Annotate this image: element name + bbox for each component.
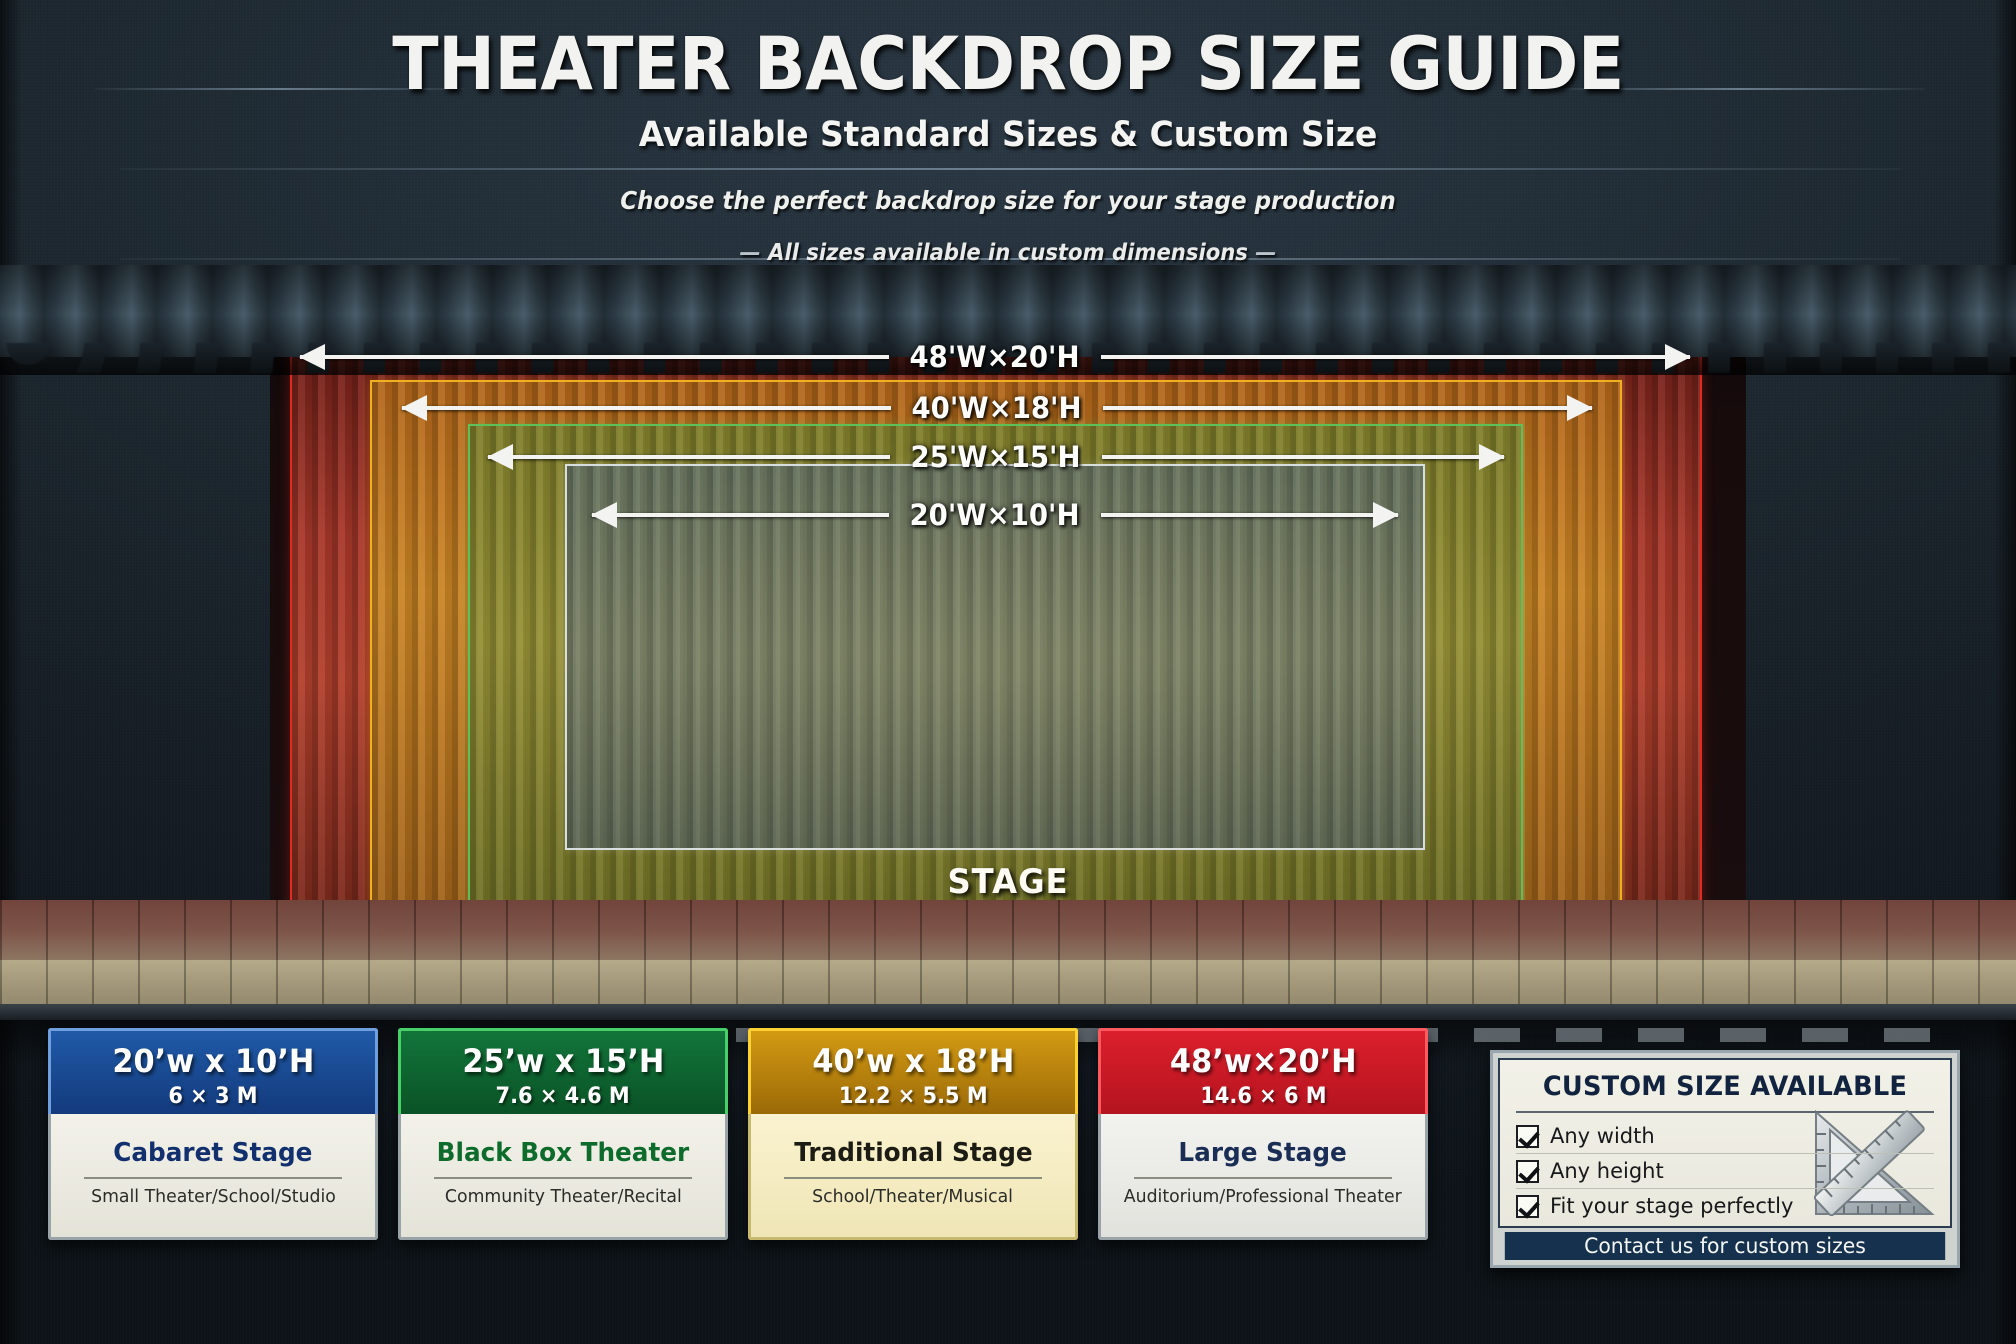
arrow-right-20x10 — [1101, 513, 1398, 517]
dimension-row-48x20: 48'W×20'H — [300, 335, 1690, 379]
checkbox-checked-icon[interactable] — [1516, 1195, 1539, 1218]
note-text: All sizes available in custom dimensions — [768, 240, 1248, 266]
custom-panel-inner: CUSTOM SIZE AVAILABLE Any width Any heig… — [1498, 1058, 1952, 1228]
card-header: 25’w x 15’H 7.6 × 4.6 M — [398, 1028, 728, 1114]
custom-feature-any-height[interactable]: Any height — [1516, 1153, 1934, 1185]
card-divider — [784, 1177, 1043, 1179]
arrow-right-25x15 — [1102, 455, 1504, 459]
checkbox-checked-icon[interactable] — [1516, 1160, 1539, 1183]
card-dimension: 48’w×20’H — [1170, 1045, 1357, 1077]
arrow-left-48x20 — [300, 355, 889, 359]
card-title: Traditional Stage — [794, 1139, 1032, 1168]
stage-floor-apron — [0, 960, 2016, 1006]
card-title: Black Box Theater — [437, 1139, 690, 1168]
custom-feature-label: Any width — [1550, 1124, 1655, 1148]
stage-label: STAGE — [50, 862, 1965, 902]
card-metric: 7.6 × 4.6 M — [496, 1084, 630, 1109]
size-card-list: 20’w x 10’H 6 × 3 M Cabaret Stage Small … — [48, 1028, 1428, 1240]
card-divider — [1134, 1177, 1393, 1179]
arrow-left-20x10 — [592, 513, 889, 517]
card-dimension: 20’w x 10’H — [112, 1045, 314, 1077]
custom-feature-fit-stage[interactable]: Fit your stage perfectly — [1516, 1188, 1934, 1220]
card-body: Large Stage Auditorium/Professional Thea… — [1098, 1114, 1428, 1240]
size-card-black-box[interactable]: 25’w x 15’H 7.6 × 4.6 M Black Box Theate… — [398, 1028, 728, 1240]
card-header: 48’w×20’H 14.6 × 6 M — [1098, 1028, 1428, 1114]
card-dimension: 40’w x 18’H — [812, 1045, 1014, 1077]
size-card-cabaret[interactable]: 20’w x 10’H 6 × 3 M Cabaret Stage Small … — [48, 1028, 378, 1240]
dimension-label-48x20: 48'W×20'H — [895, 340, 1095, 374]
custom-dimensions-note: —All sizes available in custom dimension… — [81, 240, 1936, 266]
card-header: 40’w x 18’H 12.2 × 5.5 M — [748, 1028, 1078, 1114]
infographic-background: THEATER BACKDROP SIZE GUIDE Available St… — [0, 0, 2016, 1344]
card-header: 20’w x 10’H 6 × 3 M — [48, 1028, 378, 1114]
card-usage: Auditorium/Professional Theater — [1124, 1187, 1402, 1208]
custom-feature-label: Fit your stage perfectly — [1550, 1194, 1793, 1218]
size-card-large[interactable]: 48’w×20’H 14.6 × 6 M Large Stage Auditor… — [1098, 1028, 1428, 1240]
card-usage: Community Theater/Recital — [445, 1187, 682, 1208]
arrow-left-40x18 — [402, 406, 891, 410]
card-title: Large Stage — [1179, 1139, 1347, 1168]
dimension-row-25x15: 25'W×15'H — [488, 435, 1504, 479]
dimension-row-40x18: 40'W×18'H — [402, 386, 1592, 430]
page-subtitle: Available Standard Sizes & Custom Size — [60, 115, 1955, 155]
card-body: Cabaret Stage Small Theater/School/Studi… — [48, 1114, 378, 1240]
size-card-traditional[interactable]: 40’w x 18’H 12.2 × 5.5 M Traditional Sta… — [748, 1028, 1078, 1240]
arrow-right-40x18 — [1103, 406, 1592, 410]
card-title: Cabaret Stage — [113, 1139, 312, 1168]
dimension-row-20x10: 20'W×10'H — [592, 493, 1398, 537]
custom-panel-title: CUSTOM SIZE AVAILABLE — [1526, 1071, 1923, 1102]
custom-size-panel[interactable]: CUSTOM SIZE AVAILABLE Any width Any heig… — [1490, 1050, 1960, 1268]
page-tagline: Choose the perfect backdrop size for you… — [81, 186, 1936, 215]
card-metric: 12.2 × 5.5 M — [839, 1084, 988, 1109]
header-rule-middle — [120, 168, 1900, 170]
dimension-label-25x15: 25'W×15'H — [896, 440, 1096, 474]
card-metric: 14.6 × 6 M — [1200, 1084, 1326, 1109]
card-divider — [434, 1177, 693, 1179]
custom-panel-footer[interactable]: Contact us for custom sizes — [1505, 1232, 1945, 1260]
card-metric: 6 × 3 M — [168, 1084, 257, 1109]
note-dash-left: — — [732, 240, 768, 266]
custom-feature-any-width[interactable]: Any width — [1516, 1122, 1934, 1150]
dimension-label-20x10: 20'W×10'H — [895, 498, 1095, 532]
card-divider — [84, 1177, 343, 1179]
card-dimension: 25’w x 15’H — [462, 1045, 664, 1077]
stage-edge — [0, 1004, 2016, 1020]
header: THEATER BACKDROP SIZE GUIDE Available St… — [0, 0, 2016, 300]
card-body: Black Box Theater Community Theater/Reci… — [398, 1114, 728, 1240]
page-title: THEATER BACKDROP SIZE GUIDE — [71, 22, 1946, 107]
card-usage: School/Theater/Musical — [813, 1187, 1014, 1208]
dimension-label-40x18: 40'W×18'H — [897, 391, 1097, 425]
custom-feature-label: Any height — [1550, 1159, 1664, 1183]
note-dash-right: — — [1248, 240, 1284, 266]
checkbox-checked-icon[interactable] — [1516, 1125, 1539, 1148]
card-body: Traditional Stage School/Theater/Musical — [748, 1114, 1078, 1240]
card-usage: Small Theater/School/Studio — [91, 1187, 336, 1208]
arrow-right-48x20 — [1101, 355, 1690, 359]
arrow-left-25x15 — [488, 455, 890, 459]
